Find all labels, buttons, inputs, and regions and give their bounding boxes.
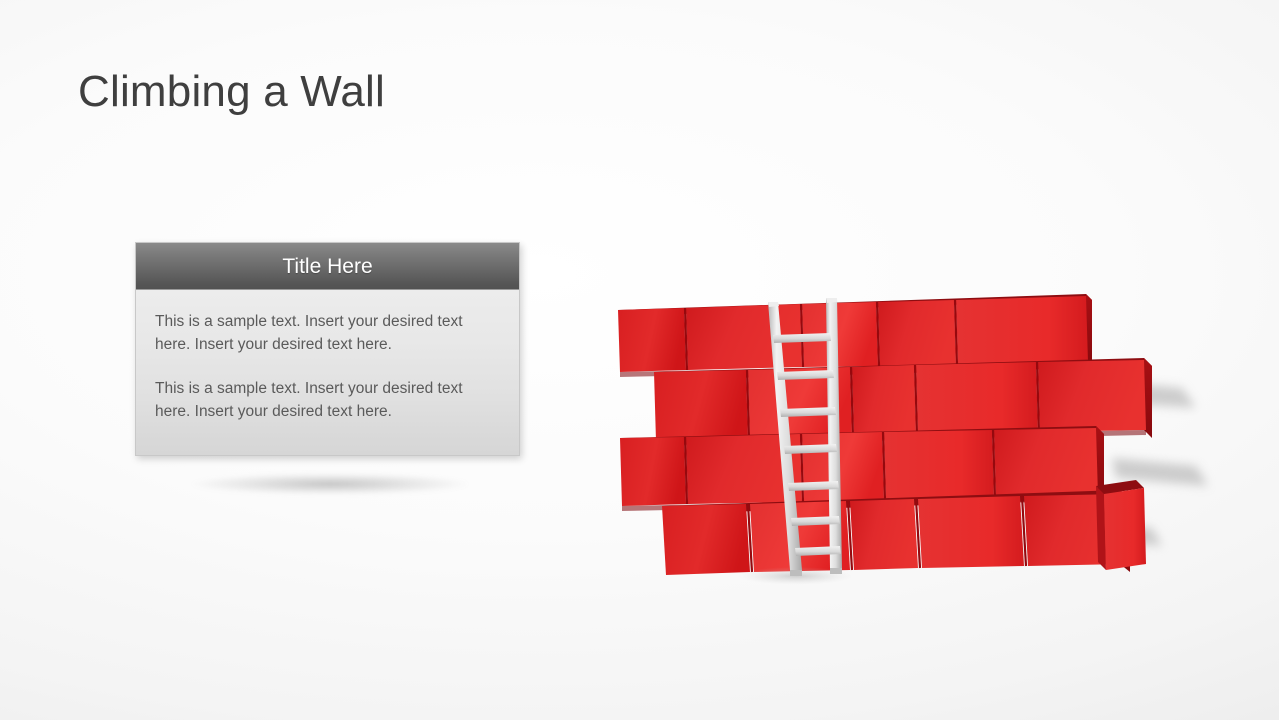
text-card[interactable]: Title Here This is a sample text. Insert… xyxy=(135,242,520,456)
brick-protruding xyxy=(1096,480,1146,570)
slide-canvas: Climbing a Wall Title Here This is a sam… xyxy=(0,0,1279,720)
brick-wall-illustration xyxy=(596,280,1216,600)
text-card-shadow xyxy=(150,470,510,498)
text-card-header: Title Here xyxy=(136,243,519,290)
page-title: Climbing a Wall xyxy=(78,67,385,118)
text-card-title: Title Here xyxy=(282,256,372,277)
text-card-paragraph-2: This is a sample text. Insert your desir… xyxy=(155,378,499,423)
text-card-body: This is a sample text. Insert your desir… xyxy=(136,290,519,455)
text-card-paragraph-1: This is a sample text. Insert your desir… xyxy=(155,311,499,356)
